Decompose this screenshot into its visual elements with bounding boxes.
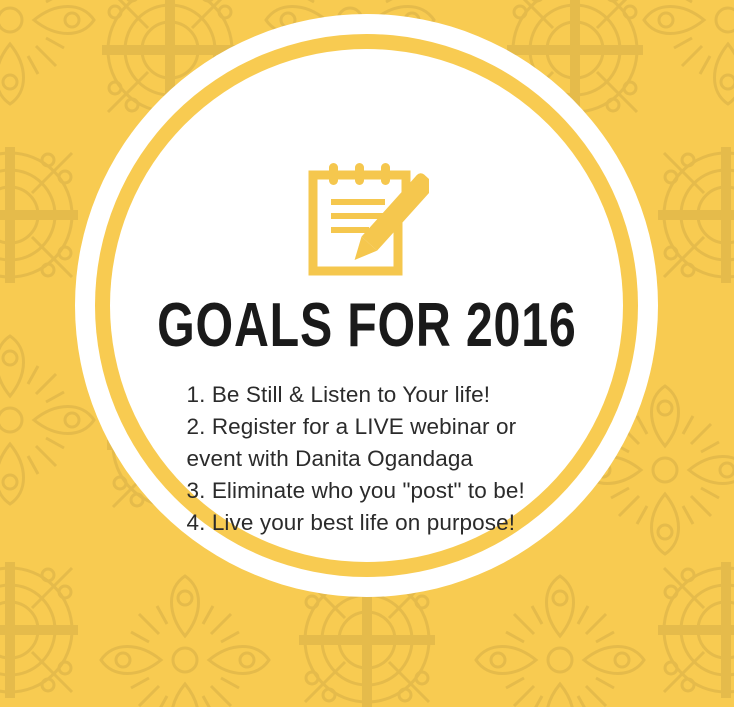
notepad-pencil-icon: [305, 161, 429, 279]
list-item: 2. Register for a LIVE webinar or event …: [187, 411, 547, 475]
goals-poster: GOALS FOR 2016 1. Be Still & Listen to Y…: [0, 0, 734, 707]
list-item: 1. Be Still & Listen to Your life!: [187, 379, 547, 411]
list-item: 4. Live your best life on purpose!: [187, 507, 547, 539]
page-title: GOALS FOR 2016: [157, 295, 576, 357]
poster-content: GOALS FOR 2016 1. Be Still & Listen to Y…: [110, 49, 623, 562]
goals-list: 1. Be Still & Listen to Your life! 2. Re…: [187, 379, 547, 539]
list-item: 3. Eliminate who you "post" to be!: [187, 475, 547, 507]
